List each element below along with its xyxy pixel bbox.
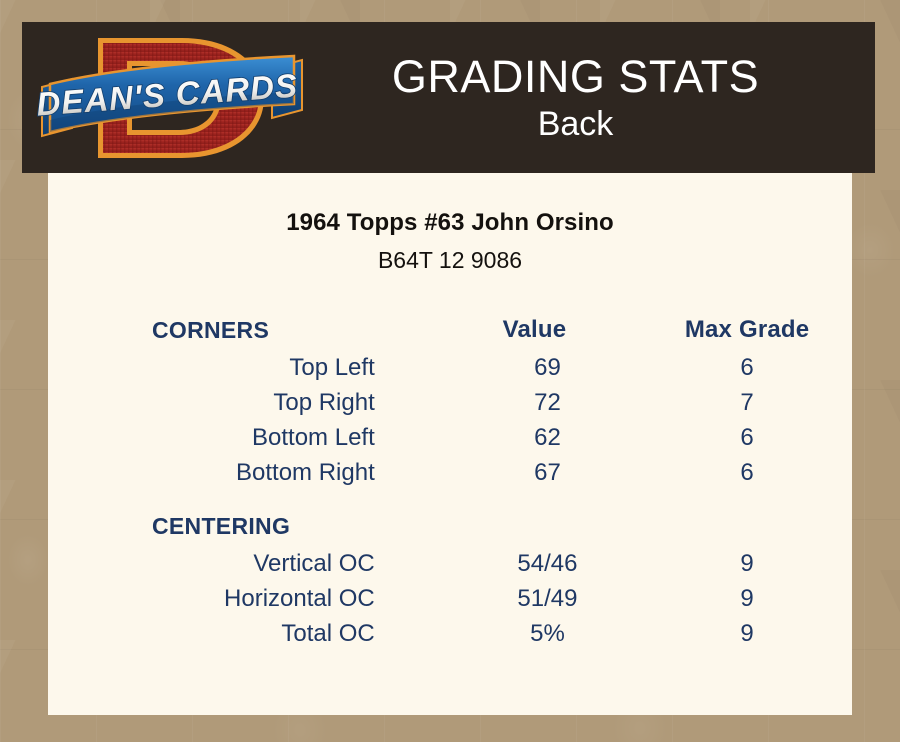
row-label: Total OC [48, 616, 431, 651]
section-title-centering: CENTERING [48, 506, 431, 546]
table-row: Vertical OC 54/46 9 [48, 546, 852, 581]
row-max-grade: 6 [638, 420, 852, 455]
row-value: 72 [431, 385, 638, 420]
row-label: Top Left [48, 350, 431, 385]
row-label: Bottom Right [48, 455, 431, 490]
row-max-grade: 9 [638, 546, 852, 581]
table-row: Bottom Right 67 6 [48, 455, 852, 490]
section-spacer [48, 490, 852, 506]
row-value: 5% [431, 616, 638, 651]
row-value: 62 [431, 420, 638, 455]
column-header-value: Value [431, 310, 638, 350]
deans-cards-logo[interactable]: DEAN'S CARDS [36, 24, 306, 172]
content-panel: 1964 Topps #63 John Orsino B64T 12 9086 … [48, 173, 852, 715]
row-label: Top Right [48, 385, 431, 420]
header-titles: GRADING STATS Back [306, 53, 875, 143]
row-max-grade: 9 [638, 581, 852, 616]
page-title: GRADING STATS [306, 53, 845, 100]
deans-cards-logo-icon: DEAN'S CARDS [36, 24, 306, 172]
row-label: Vertical OC [48, 546, 431, 581]
table-row: Total OC 5% 9 [48, 616, 852, 651]
row-label: Horizontal OC [48, 581, 431, 616]
card-code: B64T 12 9086 [48, 247, 852, 274]
card-title: 1964 Topps #63 John Orsino [48, 209, 852, 237]
page-subtitle: Back [306, 107, 845, 143]
table-row: Top Right 72 7 [48, 385, 852, 420]
section-title-corners: CORNERS [48, 310, 431, 350]
row-value: 51/49 [431, 581, 638, 616]
row-max-grade: 6 [638, 455, 852, 490]
table-row: Top Left 69 6 [48, 350, 852, 385]
table-row: Bottom Left 62 6 [48, 420, 852, 455]
row-max-grade: 6 [638, 350, 852, 385]
table-row: Horizontal OC 51/49 9 [48, 581, 852, 616]
row-max-grade: 7 [638, 385, 852, 420]
row-value: 67 [431, 455, 638, 490]
row-value: 69 [431, 350, 638, 385]
section-header-corners: CORNERS Value Max Grade [48, 310, 852, 350]
column-header-max-grade: Max Grade [638, 310, 852, 350]
row-label: Bottom Left [48, 420, 431, 455]
grading-stats-table: CORNERS Value Max Grade Top Left 69 6 To… [48, 310, 852, 651]
header-bar: DEAN'S CARDS GRADING STATS Back [22, 22, 875, 173]
row-value: 54/46 [431, 546, 638, 581]
row-max-grade: 9 [638, 616, 852, 651]
section-header-centering: CENTERING [48, 506, 852, 546]
